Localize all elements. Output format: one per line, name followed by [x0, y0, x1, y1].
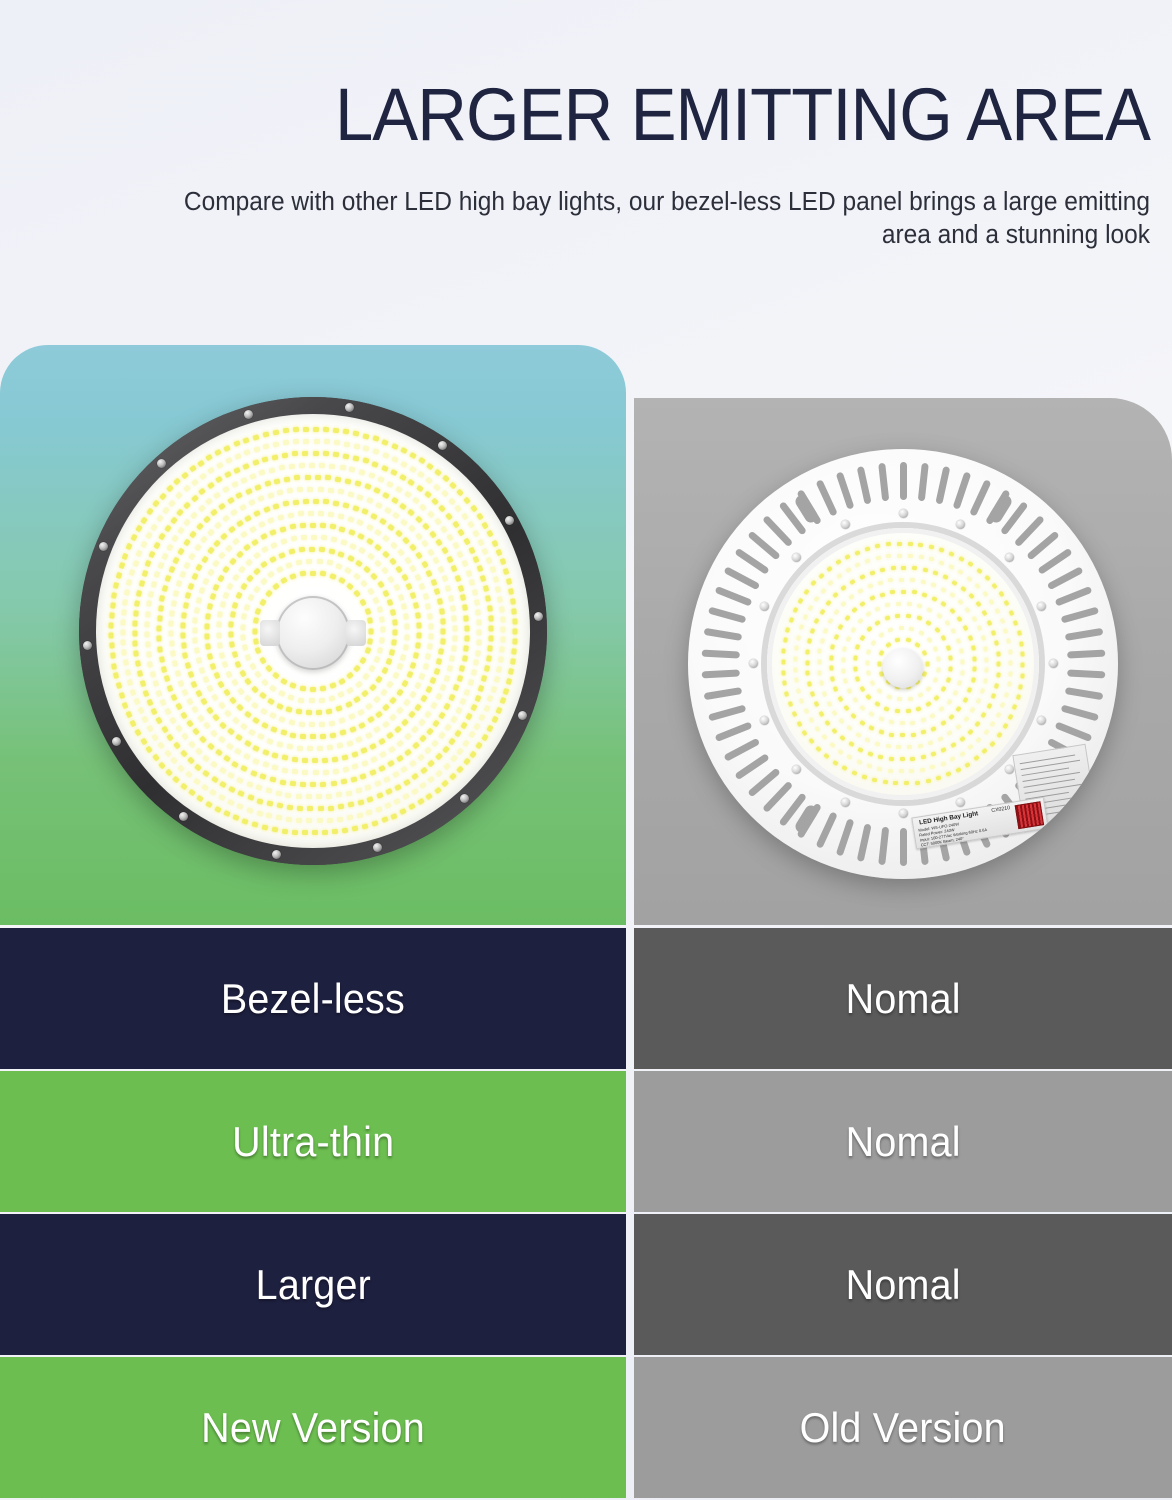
led-icon — [135, 660, 141, 667]
led-icon — [851, 770, 857, 776]
led-icon — [869, 596, 875, 602]
led-icon — [971, 616, 977, 622]
bezel-slot-icon — [900, 462, 907, 500]
led-icon — [134, 650, 140, 657]
led-icon — [132, 630, 137, 636]
led-icon — [452, 625, 457, 631]
led-icon — [994, 640, 999, 646]
led-icon — [396, 755, 404, 763]
led-icon — [297, 487, 303, 493]
led-icon — [1004, 692, 1009, 698]
led-icon — [998, 591, 1004, 597]
led-icon — [183, 539, 191, 547]
comparison-cell-old: Nomal — [634, 928, 1172, 1069]
bezel-slot-icon — [714, 585, 752, 606]
led-icon — [281, 828, 288, 834]
led-icon — [373, 487, 381, 494]
led-icon — [484, 665, 490, 672]
led-icon — [828, 580, 834, 586]
led-icon — [147, 661, 153, 668]
bezel-slot-icon — [835, 818, 854, 856]
led-icon — [486, 725, 493, 733]
led-icon — [857, 588, 863, 594]
led-icon — [140, 680, 147, 687]
led-icon — [343, 441, 350, 447]
led-icon — [217, 611, 223, 618]
led-icon — [1007, 681, 1012, 687]
led-icon — [866, 694, 872, 700]
rim-screw-icon — [99, 542, 108, 551]
led-icon — [941, 601, 947, 607]
led-icon — [817, 660, 821, 665]
led-icon — [866, 626, 872, 632]
led-icon — [463, 497, 471, 505]
led-icon — [257, 733, 265, 740]
led-icon — [406, 583, 413, 591]
led-icon — [191, 494, 199, 502]
led-icon — [218, 794, 226, 801]
led-icon — [282, 452, 289, 458]
led-icon — [126, 543, 133, 551]
led-icon — [310, 522, 316, 527]
led-icon — [153, 571, 160, 578]
led-icon — [275, 790, 282, 796]
housing-screw-icon — [1005, 553, 1014, 562]
led-icon — [371, 820, 378, 827]
led-icon — [402, 719, 410, 727]
led-icon — [260, 773, 267, 780]
led-icon — [346, 583, 354, 591]
led-icon — [909, 626, 915, 631]
led-icon — [491, 716, 498, 724]
led-icon — [269, 685, 277, 693]
led-icon — [116, 572, 122, 579]
led-icon — [283, 501, 290, 507]
bezel-slot-icon — [714, 721, 752, 742]
led-icon — [976, 601, 982, 607]
led-icon — [261, 722, 269, 729]
led-icon — [251, 821, 258, 828]
led-icon — [995, 608, 1001, 614]
led-icon — [222, 486, 230, 493]
led-icon — [355, 560, 363, 568]
led-icon — [374, 529, 382, 536]
led-icon — [823, 628, 829, 634]
led-icon — [130, 720, 137, 728]
led-icon — [412, 773, 420, 781]
led-icon — [158, 742, 166, 750]
housing-screw-icon — [1037, 716, 1046, 725]
led-icon — [184, 662, 190, 669]
led-icon — [980, 688, 985, 694]
led-icon — [439, 608, 445, 615]
led-icon — [219, 767, 227, 774]
led-icon — [948, 656, 953, 661]
led-icon — [410, 565, 417, 573]
center-tab-right-icon — [346, 620, 366, 646]
led-icon — [455, 707, 462, 715]
led-icon — [262, 749, 269, 756]
led-icon — [366, 809, 373, 816]
led-icon — [390, 813, 398, 820]
led-icon — [389, 557, 397, 565]
led-icon — [399, 502, 407, 510]
led-icon — [471, 589, 477, 596]
led-icon — [991, 693, 996, 699]
led-icon — [354, 590, 362, 598]
led-icon — [506, 578, 512, 585]
led-icon — [397, 706, 405, 714]
led-icon — [872, 778, 878, 783]
led-icon — [288, 549, 295, 555]
led-icon — [483, 704, 490, 712]
led-icon — [312, 830, 318, 835]
led-icon — [235, 734, 243, 742]
led-icon — [356, 736, 363, 743]
bezel-slot-icon — [707, 704, 745, 721]
led-icon — [426, 727, 434, 735]
led-icon — [983, 678, 988, 684]
led-icon — [805, 660, 809, 665]
led-icon — [286, 817, 293, 823]
led-icon — [205, 498, 213, 506]
led-icon — [460, 698, 467, 706]
led-icon — [995, 711, 1001, 717]
led-icon — [846, 725, 852, 731]
led-icon — [271, 826, 278, 832]
led-icon — [211, 776, 219, 783]
led-icon — [289, 573, 296, 580]
led-icon — [345, 478, 352, 484]
led-icon — [399, 808, 407, 815]
led-icon — [512, 618, 517, 624]
led-icon — [320, 685, 327, 691]
led-icon — [818, 572, 824, 578]
led-icon — [965, 761, 971, 767]
led-icon — [253, 552, 261, 560]
led-icon — [434, 469, 442, 477]
led-icon — [372, 596, 379, 604]
led-icon — [237, 777, 245, 784]
led-icon — [452, 520, 460, 528]
led-icon — [141, 716, 148, 724]
led-icon — [318, 698, 325, 704]
led-icon — [510, 598, 516, 605]
led-icon — [181, 612, 187, 619]
led-icon — [176, 580, 183, 587]
housing-screw-icon — [841, 798, 850, 807]
led-icon — [354, 480, 361, 487]
led-icon — [493, 676, 499, 683]
led-icon — [382, 720, 390, 728]
led-icon — [380, 637, 386, 644]
led-icon — [219, 781, 227, 788]
led-icon — [292, 769, 299, 775]
led-icon — [428, 623, 433, 629]
led-icon — [272, 583, 280, 591]
led-icon — [341, 754, 348, 760]
led-icon — [276, 566, 284, 573]
led-icon — [838, 624, 844, 630]
led-icon — [463, 645, 469, 652]
led-icon — [245, 678, 253, 686]
comparison-cell-old: Nomal — [634, 1214, 1172, 1355]
led-icon — [891, 566, 896, 570]
led-icon — [267, 571, 275, 579]
led-icon — [187, 756, 195, 764]
led-icon — [803, 708, 809, 714]
housing-screw-icon — [792, 553, 801, 562]
led-icon — [948, 666, 953, 671]
led-icon — [263, 444, 270, 450]
led-icon — [366, 524, 374, 531]
led-icon — [193, 617, 199, 623]
bezel-slot-icon — [935, 465, 950, 504]
led-icon — [146, 601, 152, 608]
led-icon — [861, 774, 867, 779]
led-icon — [1009, 660, 1013, 665]
led-icon — [156, 626, 161, 632]
led-icon — [350, 543, 358, 550]
led-icon — [843, 705, 849, 711]
led-icon — [340, 729, 347, 736]
led-icon — [374, 780, 381, 787]
led-icon — [130, 688, 137, 695]
led-icon — [818, 711, 824, 717]
led-icon — [217, 642, 223, 649]
led-icon — [299, 523, 305, 529]
led-icon — [124, 589, 130, 596]
led-icon — [150, 523, 157, 531]
led-icon — [910, 720, 916, 725]
led-icon — [857, 747, 863, 753]
led-icon — [426, 463, 434, 471]
led-icon — [249, 662, 256, 670]
led-icon — [985, 668, 989, 673]
led-icon — [185, 592, 191, 599]
led-icon — [346, 740, 353, 747]
led-icon — [127, 679, 133, 686]
led-icon — [213, 584, 220, 592]
led-icon — [308, 510, 314, 515]
led-icon — [342, 502, 349, 508]
led-icon — [899, 577, 904, 581]
led-icon — [948, 713, 954, 719]
led-icon — [249, 526, 257, 533]
led-icon — [282, 428, 289, 434]
led-icon — [253, 638, 259, 645]
led-icon — [842, 646, 847, 652]
led-icon — [259, 656, 266, 664]
led-icon — [300, 782, 306, 787]
led-icon — [445, 513, 453, 521]
led-icon — [417, 753, 425, 761]
led-icon — [874, 620, 880, 626]
led-icon — [353, 696, 361, 703]
led-icon — [827, 618, 833, 624]
led-icon — [215, 749, 223, 757]
led-icon — [240, 477, 248, 484]
led-icon — [303, 499, 309, 504]
led-icon — [958, 556, 964, 562]
led-icon — [983, 646, 988, 652]
led-icon — [191, 681, 198, 689]
led-icon — [842, 765, 848, 771]
led-icon — [367, 588, 375, 596]
led-icon — [826, 700, 832, 706]
led-icon — [399, 474, 407, 481]
led-icon — [166, 543, 173, 551]
led-icon — [805, 649, 810, 654]
led-icon — [372, 461, 379, 468]
led-icon — [447, 665, 453, 672]
led-icon — [309, 722, 315, 727]
bezel-slot-icon — [856, 823, 871, 862]
led-icon — [277, 803, 284, 809]
led-icon — [360, 747, 367, 754]
led-icon — [210, 761, 218, 769]
led-icon — [241, 531, 249, 539]
led-icon — [425, 603, 431, 610]
led-icon — [355, 680, 363, 688]
led-icon — [241, 765, 249, 772]
led-icon — [929, 557, 935, 562]
led-icon — [915, 780, 920, 785]
led-icon — [375, 502, 383, 509]
led-icon — [330, 781, 337, 787]
led-icon — [440, 525, 448, 533]
led-icon — [276, 741, 283, 747]
led-icon — [335, 476, 342, 482]
led-icon — [298, 547, 305, 553]
led-icon — [819, 608, 825, 614]
bezel-slot-icon — [723, 566, 760, 590]
led-icon — [450, 755, 458, 763]
led-icon — [889, 732, 895, 737]
led-icon — [362, 690, 370, 698]
led-icon — [899, 757, 904, 761]
led-icon — [839, 735, 845, 741]
led-icon — [246, 807, 253, 814]
led-icon — [793, 656, 797, 661]
led-icon — [157, 646, 163, 653]
led-icon — [268, 517, 275, 524]
led-icon — [416, 485, 424, 493]
led-icon — [248, 499, 256, 506]
led-icon — [133, 610, 139, 616]
led-icon — [810, 628, 815, 634]
led-icon — [157, 636, 162, 642]
led-icon — [986, 703, 992, 709]
led-icon — [946, 676, 951, 682]
led-icon — [907, 696, 913, 701]
led-icon — [115, 682, 121, 689]
led-icon — [235, 748, 243, 755]
led-icon — [906, 709, 911, 714]
led-icon — [224, 471, 232, 478]
led-icon — [162, 507, 170, 515]
led-icon — [338, 678, 346, 685]
led-icon — [205, 643, 211, 650]
led-icon — [944, 620, 950, 626]
led-icon — [434, 518, 442, 526]
led-icon — [353, 573, 361, 581]
led-icon — [867, 751, 873, 756]
led-icon — [243, 544, 251, 552]
led-icon — [384, 802, 391, 809]
led-icon — [837, 696, 843, 702]
led-icon — [957, 680, 962, 686]
led-icon — [269, 712, 277, 719]
led-icon — [503, 568, 510, 575]
led-icon — [886, 542, 891, 547]
bezel-less-led-disc — [79, 397, 547, 865]
led-icon — [897, 697, 902, 701]
led-icon — [163, 675, 170, 682]
led-icon — [371, 756, 379, 763]
led-icon — [973, 755, 979, 761]
led-icon — [843, 678, 848, 684]
led-icon — [1003, 628, 1008, 634]
led-icon — [418, 457, 426, 464]
led-icon — [277, 514, 284, 520]
led-icon — [415, 703, 423, 711]
led-icon — [168, 566, 175, 573]
led-icon — [252, 434, 259, 440]
led-icon — [171, 535, 178, 543]
led-icon — [316, 794, 322, 799]
led-icon — [388, 745, 396, 752]
led-icon — [394, 725, 402, 733]
led-icon — [204, 623, 209, 629]
led-icon — [242, 463, 249, 470]
led-icon — [223, 810, 231, 817]
led-icon — [278, 716, 285, 723]
led-icon — [231, 651, 238, 658]
bezel-slot-icon — [815, 811, 837, 848]
led-icon — [272, 765, 279, 771]
led-icon — [385, 788, 393, 795]
led-icon — [235, 592, 242, 600]
led-icon — [272, 752, 279, 759]
led-icon — [794, 645, 799, 651]
bezel-slot-icon — [1064, 627, 1103, 640]
led-icon — [319, 722, 325, 728]
led-icon — [375, 710, 383, 718]
led-icon — [205, 613, 211, 620]
led-icon — [178, 764, 186, 772]
led-icon — [380, 627, 385, 633]
led-icon — [218, 736, 226, 744]
led-icon — [313, 770, 319, 775]
led-icon — [481, 675, 487, 682]
led-icon — [1021, 663, 1025, 668]
led-icon — [342, 827, 349, 833]
led-icon — [188, 553, 195, 561]
led-icon — [279, 465, 286, 471]
housing-screw-icon — [760, 602, 769, 611]
led-icon — [386, 658, 393, 665]
led-icon — [878, 650, 884, 656]
led-icon — [396, 663, 403, 670]
led-icon — [917, 743, 923, 748]
led-icon — [363, 445, 370, 451]
led-icon — [320, 734, 326, 740]
led-icon — [279, 779, 286, 785]
led-icon — [897, 541, 902, 545]
led-icon — [272, 429, 279, 435]
led-icon — [282, 767, 289, 773]
